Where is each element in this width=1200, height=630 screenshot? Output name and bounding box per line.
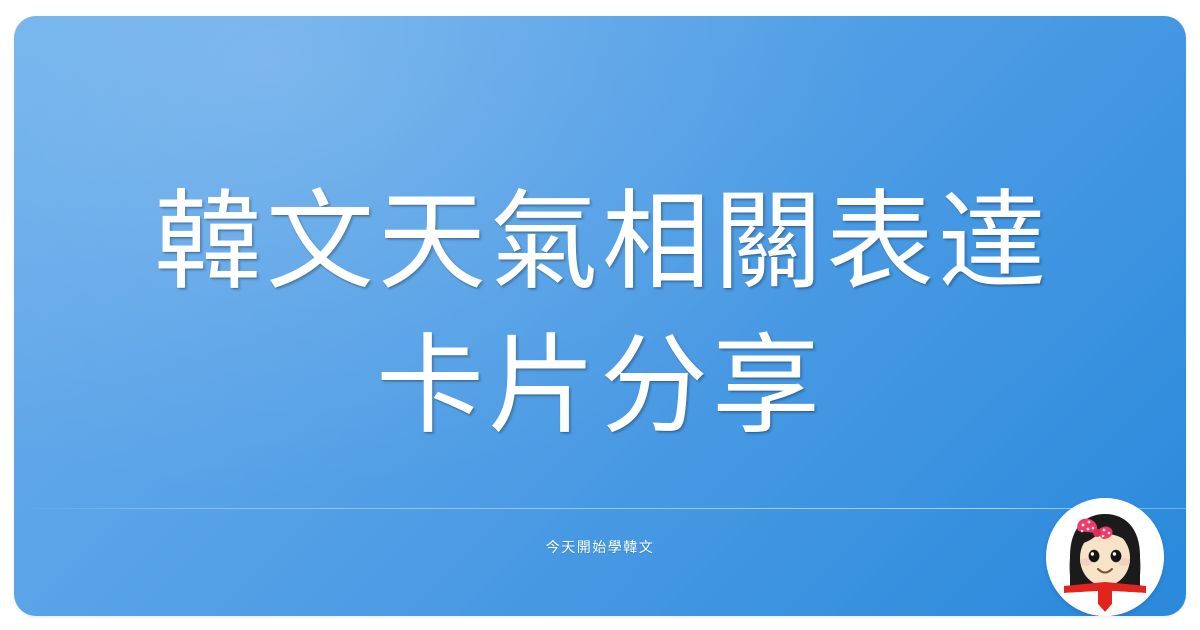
headline-line-2: 卡片分享 <box>14 316 1186 456</box>
footer-divider <box>14 508 1186 509</box>
footer-caption: 今天開始學韓文 <box>14 537 1186 557</box>
share-card: 韓文天氣相關表達 卡片分享 今天開始學韓文 <box>14 16 1186 616</box>
headline-line-1: 韓文天氣相關表達 <box>18 172 1186 312</box>
share-card-canvas: 韓文天氣相關表達 卡片分享 今天開始學韓文 <box>0 0 1200 630</box>
headline-block: 韓文天氣相關表達 卡片分享 <box>14 16 1186 456</box>
girl-avatar-icon <box>1046 498 1164 616</box>
avatar <box>1046 498 1164 616</box>
